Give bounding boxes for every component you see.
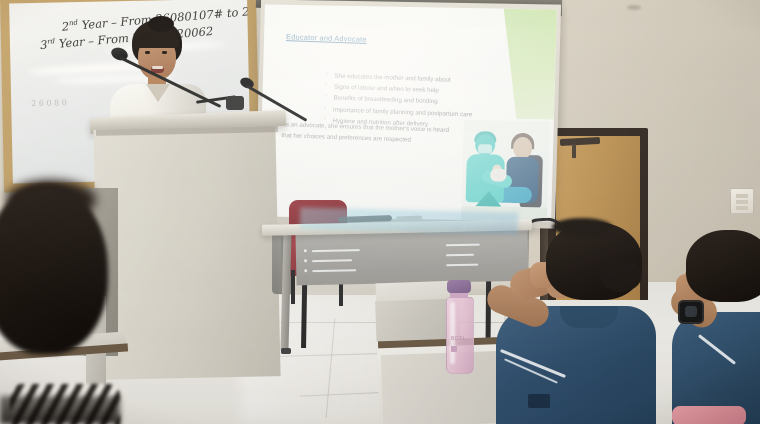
demonstration-table-panel — [295, 229, 528, 286]
student-hair — [686, 230, 760, 302]
pink-garment — [672, 406, 746, 424]
student-hair-bun — [600, 258, 642, 292]
presenter-hair-bun — [148, 16, 174, 32]
chair-leg — [291, 270, 295, 304]
student-right — [676, 230, 760, 424]
student-front — [516, 222, 686, 424]
bottle-highlight — [450, 302, 455, 364]
midwife-mother-baby-illustration — [461, 120, 550, 221]
nurse-mask — [478, 144, 492, 153]
student-pocket — [528, 394, 550, 408]
presenter-teeth — [152, 66, 163, 69]
classroom-photo: 2nd Year – From 26080107# to 25020302 3r… — [0, 0, 760, 424]
presenter-eye — [145, 51, 150, 54]
light-switch-plate[interactable] — [730, 188, 754, 214]
slide-title: Educator and Advocate — [286, 32, 367, 44]
student-hair-wisps — [552, 218, 612, 236]
microphone-base — [226, 96, 244, 110]
bottle-label-text: BOTL — [451, 336, 467, 348]
baby-body — [490, 168, 506, 181]
bottle-cap[interactable] — [447, 280, 471, 293]
decorative-triangle — [475, 191, 501, 206]
student-collar — [560, 306, 618, 328]
whiteboard-faint-text: 2 6 0 8 0 — [31, 98, 67, 108]
projected-slide: Educator and Advocate She educates the m… — [259, 4, 557, 221]
foreground-shadow — [0, 396, 120, 424]
watch-face — [685, 306, 697, 317]
projector-screen-border: Educator and Advocate She educates the m… — [255, 0, 561, 229]
presenter-hairline — [135, 32, 179, 48]
door-closer-arm — [572, 144, 576, 158]
wristwatch — [678, 300, 704, 324]
presenter-eye — [162, 51, 167, 54]
table-foot — [281, 348, 291, 354]
water-bottle[interactable]: BOTL — [444, 280, 474, 372]
ceiling-fixture — [627, 5, 641, 10]
